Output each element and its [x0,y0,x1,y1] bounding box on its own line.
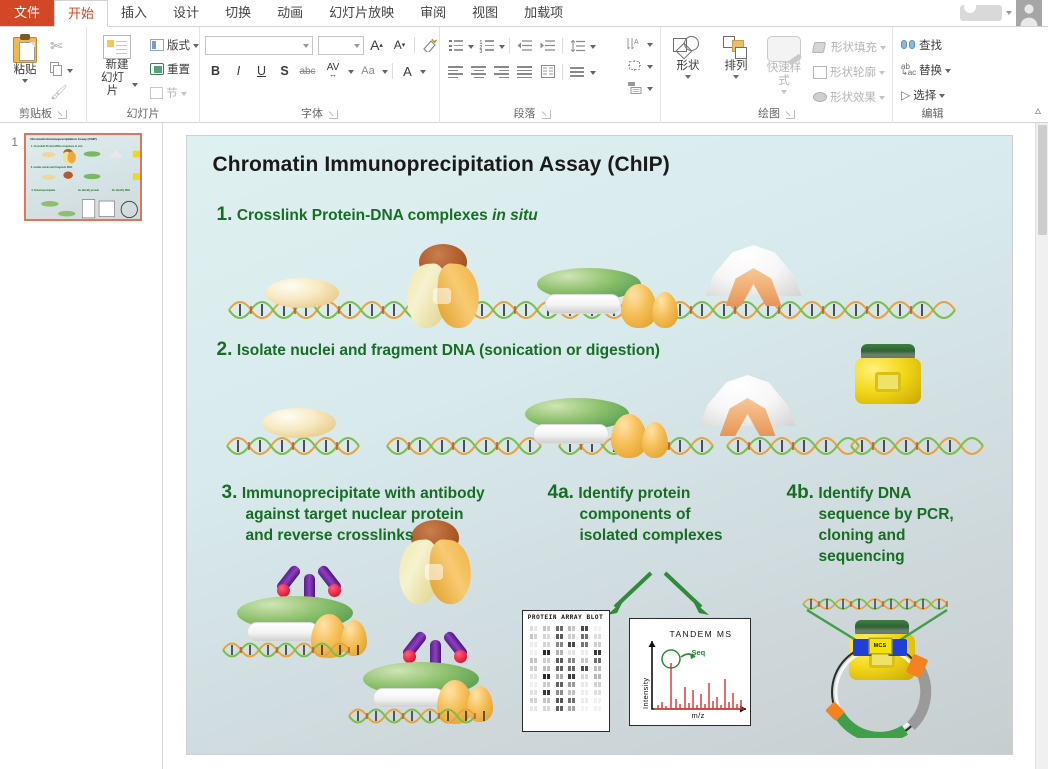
align-text-button[interactable] [624,56,645,75]
blot-cell [530,674,539,679]
blot-cell [593,682,602,687]
character-spacing-button[interactable]: AV ↔ [320,61,346,81]
blot-cell [542,650,551,655]
blot-cell [580,690,589,695]
protein-array-blot-panel: PROTEIN ARRAY BLOT [522,610,610,732]
arrange-icon [723,36,749,60]
quick-styles-button[interactable]: 快速样式 [762,34,806,96]
blot-cell [568,690,577,695]
cut-button[interactable]: ✄ [47,36,76,56]
tab-design[interactable]: 设计 [160,0,212,26]
chevron-down-icon[interactable] [590,45,596,49]
chevron-down-icon[interactable] [590,71,596,75]
step-1-number: 1. [217,204,233,225]
step-4b-line3: cloning and [787,525,987,546]
binoculars-icon [901,40,916,51]
chevron-down-icon[interactable] [1006,11,1012,15]
chevron-down-icon[interactable] [879,71,885,75]
protein-dimer-1 [403,244,483,330]
blot-cell [593,666,602,671]
chevron-down-icon[interactable] [468,45,474,49]
protein-cone-2a [611,414,647,458]
blot-cell [542,706,551,711]
blot-cell [593,674,602,679]
convert-to-smartart-button[interactable] [624,78,645,97]
find-button[interactable]: 查找 [898,36,945,54]
paragraph-group-text: 段落 [514,107,536,122]
blot-cell [530,690,539,695]
numbered-list-button[interactable]: 123 [476,36,497,55]
blot-cell [542,698,551,703]
clipboard-group-text: 剪贴板 [19,107,52,122]
mcs-label: MCS [869,638,892,654]
layout-button[interactable]: 版式 [147,36,202,54]
clear-formatting-button[interactable] [419,35,440,55]
font-color-button[interactable]: A [397,61,418,81]
new-slide-button[interactable]: 新建 幻灯片 [92,33,142,100]
numbered-list-icon: 123 [480,40,494,51]
blot-cell [580,706,589,711]
step-1-italic: in situ [492,207,538,224]
step-4a-text[interactable]: 4a. Identify protein components of isola… [548,482,748,546]
chevron-down-icon[interactable] [880,46,886,50]
tab-addins[interactable]: 加载项 [511,0,576,26]
svg-text:2. Isolate nuclei and fragment: 2. Isolate nuclei and fragment DNA [31,166,73,169]
slide-canvas[interactable]: Chromatin Immunoprecipitation Assay (ChI… [186,135,1013,755]
chevron-down-icon[interactable] [499,45,505,49]
blot-cell [580,698,589,703]
blot-cell [542,626,551,631]
workspace: 1 Chromatin Immunoprecipitation Assay (C… [0,123,1048,769]
blot-cell [555,674,564,679]
chevron-down-icon[interactable] [781,90,787,94]
avatar[interactable] [1016,0,1042,26]
align-left-icon [448,66,463,77]
chevron-down-icon[interactable] [647,43,653,47]
ribbon-group-paragraph-extra: A [624,27,660,123]
collapse-ribbon-button[interactable]: ▵ [1035,103,1041,117]
blot-cell [542,642,551,647]
tab-slideshow[interactable]: 幻灯片放映 [316,0,407,26]
bold-button[interactable]: B [205,61,226,81]
new-slide-icon [103,35,131,59]
find-label: 查找 [919,37,942,53]
blot-cell [530,706,539,711]
replace-button[interactable]: ab↳ac 替换 [898,61,954,79]
chevron-down-icon[interactable] [181,92,187,96]
blot-cell [555,642,564,647]
tab-animations[interactable]: 动画 [264,0,316,26]
blot-cell [568,634,577,639]
dialog-launcher-icon[interactable] [329,110,338,119]
tab-transitions[interactable]: 切换 [212,0,264,26]
ribbon-group-slides: 新建 幻灯片 版式 重置 节 [86,27,199,123]
blot-cell [542,658,551,663]
copy-button[interactable] [47,61,76,78]
blot-cell [555,626,564,631]
protein-white-bar-1 [545,294,621,314]
shape-fill-label: 形状填充 [831,39,877,55]
text-columns-icon [541,65,555,78]
tab-review[interactable]: 审阅 [407,0,459,26]
blot-cell [555,698,564,703]
chevron-down-icon[interactable] [945,69,951,73]
blot-cell [530,698,539,703]
blot-cell [568,658,577,663]
scissors-icon: ✄ [50,37,63,55]
paint-bucket-icon [813,41,828,54]
step-3-number: 3. [222,482,238,503]
blot-cell [568,626,577,631]
protein-disc-tan-2 [262,408,336,438]
columns-button[interactable] [537,62,558,81]
blot-cell [580,634,589,639]
shape-effects-button[interactable]: 形状效果 [810,88,889,106]
reset-icon [150,63,164,75]
blot-cell [568,698,577,703]
blot-cell [593,658,602,663]
blot-cell [555,706,564,711]
step-4b-text[interactable]: 4b. Identify DNA sequence by PCR, clonin… [787,482,987,567]
dna-fragment-3b [345,698,545,732]
blot-cell [542,666,551,671]
ribbon-group-font: A▴ A▾ B I U S abc AV [199,27,439,123]
blot-cell [555,666,564,671]
ribbon-group-slides-label: 幻灯片 [92,106,194,123]
blot-cell [593,690,602,695]
blot-cell [530,666,539,671]
step-4b-number: 4b. [787,482,814,503]
vertical-scrollbar[interactable] [1035,123,1048,769]
chevron-down-icon[interactable] [685,75,691,79]
replace-label: 替换 [919,62,942,78]
layout-label: 版式 [167,37,190,53]
chevron-down-icon[interactable] [420,70,426,74]
svg-text:Chromatin Immunoprecipitation: Chromatin Immunoprecipitation Assay (ChI… [30,137,96,141]
thumbnail-sketch: Chromatin Immunoprecipitation Assay (ChI… [26,135,142,221]
blot-cell [555,634,564,639]
reset-label: 重置 [167,61,190,77]
blot-cell [568,706,577,711]
protein-disc-tan-1 [265,278,339,308]
blot-cell [555,690,564,695]
blot-cell [530,626,539,631]
chevron-down-icon[interactable] [67,69,73,73]
increase-indent-button[interactable] [537,36,558,55]
chevron-down-icon[interactable] [647,65,653,69]
change-case-button[interactable]: Aa [356,61,380,81]
protein-white-bar-2 [533,424,609,444]
blot-cell [568,650,577,655]
blot-cell [580,674,589,679]
layout-icon [150,39,164,51]
blot-cell [542,682,551,687]
step-4a-line3: isolated complexes [548,525,748,546]
blot-cell [555,650,564,655]
tab-insert[interactable]: 插入 [108,0,160,26]
slide-edit-area: Chromatin Immunoprecipitation Assay (ChI… [163,123,1035,769]
svg-text:1. Crosslink Protein-DNA compl: 1. Crosslink Protein-DNA complexes in si… [31,145,83,148]
quick-styles-label: 快速样式 [766,62,802,88]
page-title[interactable]: Chromatin Immunoprecipitation Assay (ChI… [213,153,670,177]
text-direction-button[interactable] [567,62,588,81]
text-shadow-button[interactable]: S [274,61,295,81]
shape-effects-icon [813,92,827,102]
justify-icon [517,66,532,77]
line-spacing-icon [570,40,585,52]
underline-button[interactable]: U [251,61,272,81]
copy-icon [50,62,64,77]
tandem-ms-panel: TANDEM MS Intensity m/z Seq [629,618,751,726]
step-4b-line2: sequence by PCR, [787,504,987,525]
paste-button[interactable]: 粘贴 [5,32,45,85]
blot-cell [530,682,539,687]
ribbon-tab-bar: 文件 开始 插入 设计 切换 动画 幻灯片放映 审阅 视图 加载项 [0,0,1048,27]
slide-thumbnail-1[interactable]: Chromatin Immunoprecipitation Assay (ChI… [24,133,142,221]
editing-group-text: 编辑 [922,107,944,122]
step-4a-line1: Identify protein [578,485,690,502]
ribbon-group-clipboard-label: 剪贴板 [5,106,81,123]
step-1-label: Crosslink Protein-DNA complexes [237,207,492,224]
user-icon [1016,0,1042,26]
blot-cell [593,626,602,631]
decrease-indent-icon [517,40,532,51]
align-left-button[interactable] [445,62,466,81]
ribbon-group-clipboard: 粘贴 ✄ 🖌 剪贴板 [0,27,86,123]
tab-home[interactable]: 开始 [54,0,108,27]
thumbnail-preview: Chromatin Immunoprecipitation Assay (ChI… [26,135,142,221]
protein-cone-1a [621,284,657,328]
blot-cell [568,674,577,679]
ribbon-group-paragraph-label: 段落 [445,106,619,123]
arrange-button[interactable]: 排列 [714,34,758,81]
replace-icon: ab↳ac [901,64,916,76]
quick-styles-icon [767,36,801,62]
decrease-indent-button[interactable] [514,36,535,55]
blot-cell [530,642,539,647]
svg-text:3. Immunoprecipitate: 3. Immunoprecipitate [31,189,56,192]
shape-fill-button[interactable]: 形状填充 [810,38,889,56]
font-name-input[interactable] [205,36,313,55]
text-direction-icon [570,66,585,77]
tab-view[interactable]: 视图 [459,0,511,26]
ribbon-group-editing: 查找 ab↳ac 替换 ▷ 选择 编辑 [892,27,972,123]
blot-cell [593,634,602,639]
text-rotate-icon: A [627,37,642,50]
strikethrough-button[interactable]: abc [297,61,318,81]
blot-cell [580,666,589,671]
svg-text:4b. Identify DNA: 4b. Identify DNA [112,189,131,192]
eraser-icon [422,38,437,52]
wordart-direction-button[interactable]: A [624,34,645,53]
blot-cell [568,642,577,647]
blot-cell [542,634,551,639]
ribbon-group-editing-label: 编辑 [898,106,967,123]
dialog-launcher-icon[interactable] [542,110,551,119]
step-3-line3: and reverse crosslinks [222,525,552,546]
section-label: 节 [166,85,178,101]
ribbon: 粘贴 ✄ 🖌 剪贴板 [0,27,1048,123]
svg-text:A: A [634,39,639,46]
align-center-icon [471,66,486,77]
shapes-button[interactable]: 形状 [666,34,710,81]
paste-label: 粘贴 [14,64,37,77]
select-button[interactable]: ▷ 选择 [898,86,948,104]
tab-file[interactable]: 文件 [0,0,54,26]
bullet-list-button[interactable] [445,36,466,55]
blot-cell [542,690,551,695]
drawing-group-text: 绘图 [758,107,780,122]
step-2-number: 2. [217,339,233,360]
chevron-down-icon[interactable] [879,96,885,100]
chevron-down-icon[interactable] [382,70,388,74]
font-group-text: 字体 [301,107,323,122]
blot-cell [555,682,564,687]
chevron-down-icon[interactable] [647,87,653,91]
bulleted-list-icon [449,40,463,51]
thumbnail-item[interactable]: 1 Chromatin Immunoprecipitation Assay (C… [0,133,162,221]
line-spacing-button[interactable] [567,36,588,55]
section-button[interactable]: 节 [147,84,202,102]
shape-outline-label: 形状轮廓 [830,64,876,80]
ribbon-group-drawing: 形状 排列 快速样式 形状填充 形 [660,27,892,123]
shapes-label: 形状 [677,60,700,73]
protein-cone-2b [642,422,668,458]
font-size-input[interactable] [318,36,364,55]
step-3-text[interactable]: 3. Immunoprecipitate with antibody again… [222,482,552,546]
blot-cell [530,650,539,655]
arrange-label: 排列 [725,60,748,73]
chevron-down-icon[interactable] [303,44,309,48]
paintbrush-icon: 🖌 [50,84,68,101]
blot-cell [530,634,539,639]
new-slide-label-line2: 幻灯片 [96,72,129,98]
align-right-button[interactable] [491,62,512,81]
blot-cell [580,642,589,647]
scrollbar-thumb[interactable] [1038,125,1047,235]
align-center-button[interactable] [468,62,489,81]
clipboard-icon [12,34,38,64]
step-3-line2: against target nuclear protein [222,504,552,525]
protein-cone-1b [652,292,678,328]
ribbon-group-paragraph: 123 [439,27,624,123]
shapes-icon [673,36,703,60]
reset-button[interactable]: 重置 [147,60,202,78]
blot-cell [580,658,589,663]
blot-cell [530,658,539,663]
italic-button[interactable]: I [228,61,249,81]
titlebar-right-cluster [960,0,1048,26]
svg-text:4a. Identify protein: 4a. Identify protein [78,189,100,192]
shape-effects-label: 形状效果 [830,89,876,105]
chevron-down-icon[interactable] [939,94,945,98]
ribbon-group-font-label: 字体 [205,106,434,123]
chevron-down-icon[interactable] [733,75,739,79]
shape-outline-button[interactable]: 形状轮廓 [810,63,889,81]
chevron-down-icon[interactable] [132,83,138,87]
plasmid-diagram [787,588,977,738]
spacer-label [624,106,655,123]
dialog-launcher-icon[interactable] [786,110,795,119]
increase-indent-icon [540,40,555,51]
align-right-icon [494,66,509,77]
account-name-redacted [960,5,1002,21]
blot-cell [580,682,589,687]
slides-group-text: 幻灯片 [127,107,160,122]
blot-cell [568,682,577,687]
increase-font-size-button[interactable]: A▴ [366,35,387,55]
thumbnail-number: 1 [8,133,18,149]
decrease-font-size-button[interactable]: A▾ [389,35,410,55]
format-painter-button[interactable]: 🖌 [47,83,76,102]
chevron-down-icon[interactable] [22,79,28,83]
dialog-launcher-icon[interactable] [58,110,67,119]
blot-cell [593,698,602,703]
cursor-arrow-icon: ▷ [901,88,910,102]
blot-cell [542,674,551,679]
new-slide-label-line1: 新建 [106,59,129,72]
smartart-icon [627,81,642,94]
tandem-ms-plot [630,619,752,727]
blot-cell [593,642,602,647]
protein-array-blot-title: PROTEIN ARRAY BLOT [523,614,609,621]
blot-cell [593,706,602,711]
blot-grid [523,621,609,716]
step-1-text[interactable]: 1. Crosslink Protein-DNA complexes in si… [217,204,538,226]
blot-cell [580,626,589,631]
blot-cell [568,666,577,671]
blot-cell [555,658,564,663]
ribbon-group-drawing-label: 绘图 [666,106,887,123]
chevron-down-icon[interactable] [348,70,354,74]
align-text-icon [627,59,642,72]
step-3-line1: Immunoprecipitate with antibody [242,485,485,502]
section-icon [150,87,163,99]
step-4a-line2: components of [548,504,748,525]
chevron-down-icon[interactable] [354,44,360,48]
step-2-label: Isolate nuclei and fragment DNA (sonicat… [237,342,660,359]
slide-thumbnail-pane: 1 Chromatin Immunoprecipitation Assay (C… [0,123,163,769]
step-4a-number: 4a. [548,482,574,503]
justify-button[interactable] [514,62,535,81]
step-2-text[interactable]: 2. Isolate nuclei and fragment DNA (soni… [217,339,660,361]
select-label: 选择 [913,87,936,103]
plasmid-figure: MCS [787,588,977,738]
blot-cell [580,650,589,655]
blot-cell [593,650,602,655]
pencil-outline-icon [813,66,827,79]
step-4b-line4: sequencing [787,546,987,567]
step-4b-line1: Identify DNA [818,485,911,502]
